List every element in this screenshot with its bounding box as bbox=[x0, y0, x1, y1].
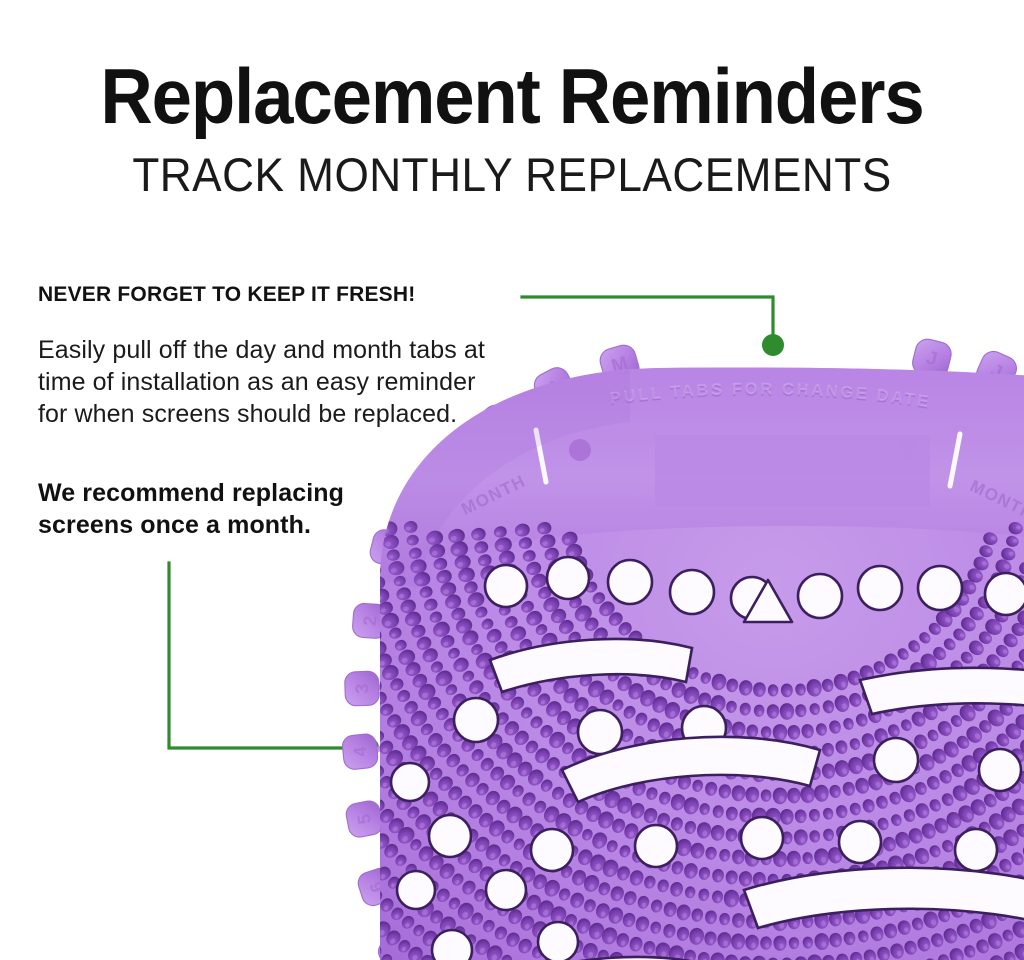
screen-hole bbox=[531, 829, 573, 871]
screen-hole bbox=[608, 560, 652, 604]
screen-hole bbox=[858, 566, 902, 610]
screen-hole bbox=[485, 565, 527, 607]
svg-text:3: 3 bbox=[352, 683, 372, 694]
infographic-canvas: Replacement Reminders TRACK MONTHLY REPL… bbox=[0, 0, 1024, 960]
page-title: Replacement Reminders bbox=[36, 0, 988, 135]
screen-hole bbox=[635, 825, 677, 867]
screen-hole bbox=[397, 871, 435, 909]
screen-hole bbox=[432, 930, 472, 960]
screen-hole bbox=[741, 817, 783, 859]
screen-hole bbox=[918, 566, 962, 610]
page-subtitle: TRACK MONTHLY REPLACEMENTS bbox=[31, 135, 994, 198]
screen-hole bbox=[798, 574, 842, 618]
screen-hole bbox=[955, 829, 997, 871]
screen-hole bbox=[874, 738, 918, 782]
screen-hole bbox=[985, 573, 1024, 615]
svg-text:2: 2 bbox=[360, 615, 381, 626]
logo-patch bbox=[655, 435, 930, 507]
screen-hole bbox=[454, 698, 498, 742]
header: Replacement Reminders TRACK MONTHLY REPL… bbox=[0, 0, 1024, 198]
screen-hole bbox=[538, 922, 578, 960]
screen-body: PULL TABS FOR CHANGE DATE PULL TABS FOR … bbox=[360, 354, 1024, 960]
bump-left bbox=[569, 439, 591, 461]
screen-hole bbox=[547, 557, 589, 599]
screen-hole bbox=[486, 870, 526, 910]
screen-hole bbox=[391, 763, 429, 801]
screen-hole bbox=[670, 570, 714, 614]
screen-hole bbox=[578, 710, 622, 754]
screen-hole bbox=[839, 821, 881, 863]
screen-hole bbox=[979, 749, 1021, 791]
svg-text:4: 4 bbox=[350, 746, 371, 758]
callout-heading-fresh: NEVER FORGET TO KEEP IT FRESH! bbox=[38, 283, 508, 307]
screen-hole bbox=[429, 815, 471, 857]
urinal-screen-illustration: F M A M bbox=[300, 330, 1024, 960]
